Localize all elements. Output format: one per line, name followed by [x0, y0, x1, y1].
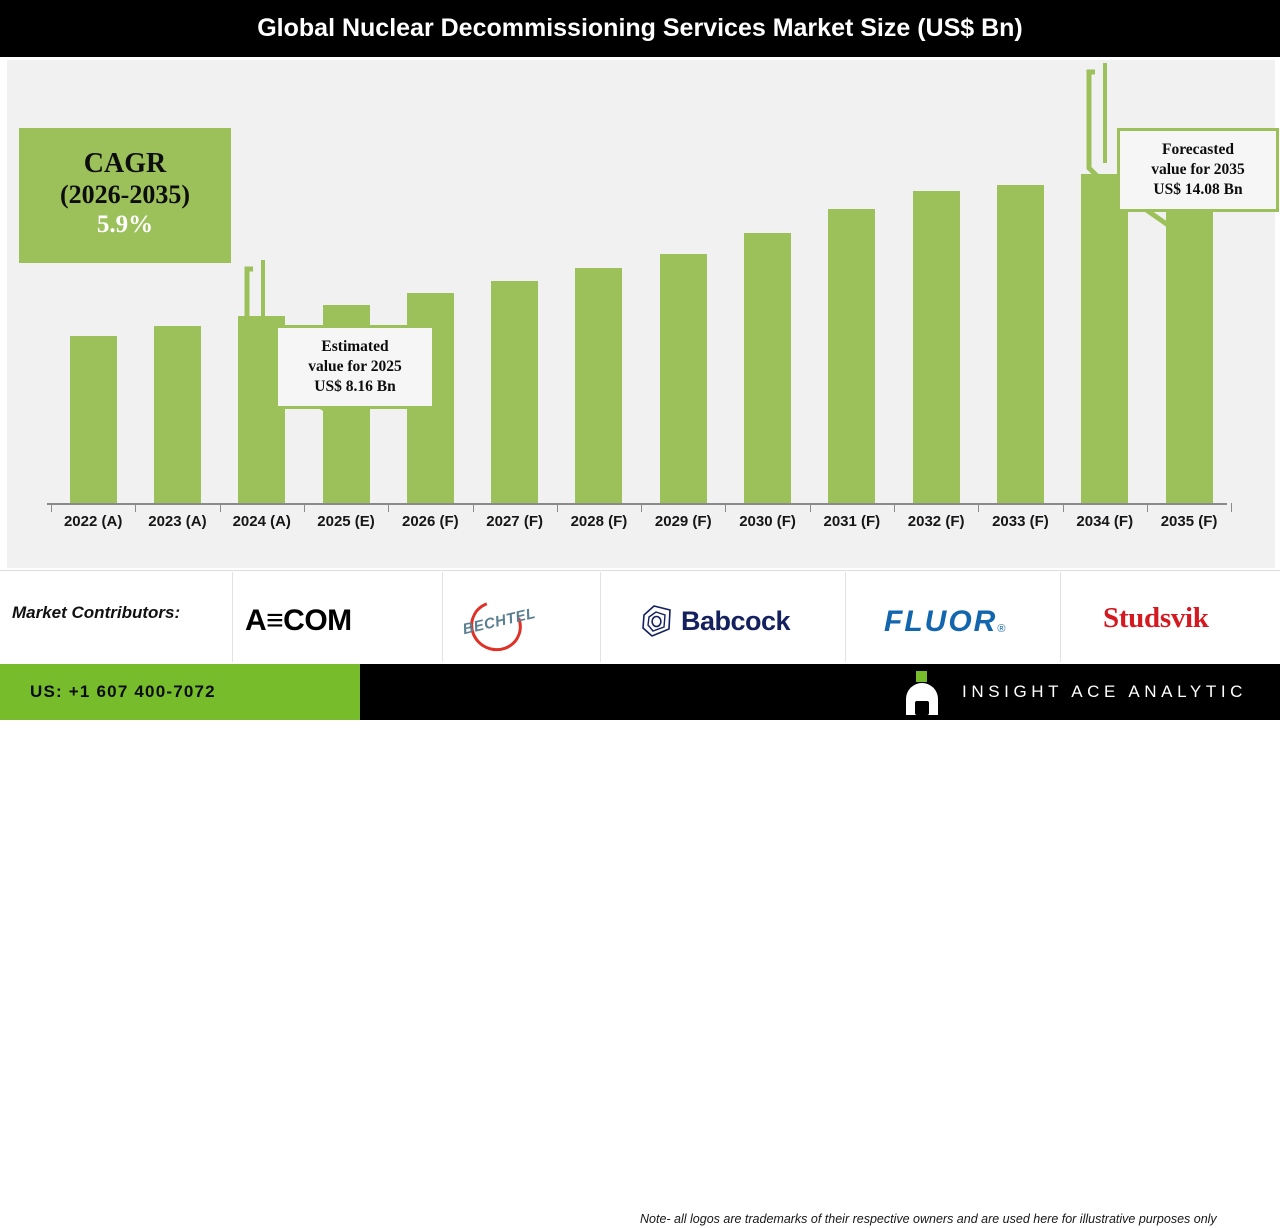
- callout-2025-line1: Estimated: [321, 337, 388, 357]
- contributor-divider: [600, 572, 601, 662]
- brand-name: INSIGHT ACE ANALYTIC: [962, 682, 1247, 702]
- bar-2032: [913, 191, 960, 503]
- bar-2033: [997, 185, 1044, 503]
- logo-a-notch: [915, 701, 929, 715]
- bar-2029: [660, 254, 707, 503]
- logo-aecom: A≡COM: [245, 604, 352, 638]
- x-label-2023: 2023 (A): [130, 513, 225, 530]
- x-tick: [1231, 503, 1232, 512]
- x-label-2025: 2025 (E): [299, 513, 394, 530]
- contributor-divider: [232, 572, 233, 662]
- x-label-2027: 2027 (F): [467, 513, 562, 530]
- cagr-badge: CAGR (2026-2035) 5.9%: [19, 128, 231, 263]
- x-axis-line: [47, 503, 1227, 505]
- cagr-value: 5.9%: [97, 209, 153, 242]
- insightace-logo-icon: [900, 669, 944, 715]
- brand-block: INSIGHT ACE ANALYTIC: [900, 664, 1247, 720]
- contributor-divider: [442, 572, 443, 662]
- bar-2031: [828, 209, 875, 503]
- callout-2035-line3: US$ 14.08 Bn: [1153, 180, 1242, 200]
- callout-estimated-2025: Estimated value for 2025 US$ 8.16 Bn: [275, 325, 435, 409]
- logo-fluor-text: FLUOR: [884, 605, 997, 639]
- callout-2035-line1: Forecasted: [1162, 140, 1234, 160]
- page-title: Global Nuclear Decommissioning Services …: [257, 14, 1023, 43]
- x-label-2029: 2029 (F): [636, 513, 731, 530]
- callout-forecasted-2035: Forecasted value for 2035 US$ 14.08 Bn: [1117, 128, 1279, 212]
- bar-2028: [575, 268, 622, 503]
- x-label-2030: 2030 (F): [720, 513, 815, 530]
- cagr-title: CAGR: [84, 149, 166, 179]
- callout-2035-line2: value for 2035: [1151, 160, 1245, 180]
- logo-babcock-text: Babcock: [681, 606, 790, 637]
- chart-panel: 2022 (A)2023 (A)2024 (A)2025 (E)2026 (F)…: [6, 60, 1275, 568]
- x-label-2034: 2034 (F): [1057, 513, 1152, 530]
- bar-2027: [491, 281, 538, 503]
- cagr-period: (2026-2035): [60, 180, 190, 210]
- callout-2025-line3: US$ 8.16 Bn: [314, 377, 395, 397]
- contributor-divider: [845, 572, 846, 662]
- x-label-2035: 2035 (F): [1142, 513, 1237, 530]
- bar-2022: [70, 336, 117, 503]
- x-label-2024: 2024 (A): [214, 513, 309, 530]
- logo-dot: [916, 671, 927, 682]
- logo-bechtel: BECHTEL: [462, 599, 542, 647]
- x-label-2032: 2032 (F): [889, 513, 984, 530]
- babcock-hexagon-icon: [640, 604, 674, 638]
- x-label-2026: 2026 (F): [383, 513, 478, 530]
- bar-2034: [1081, 174, 1128, 503]
- contributor-divider: [1060, 572, 1061, 662]
- footer-phone-block[interactable]: US: +1 607 400-7072: [0, 664, 360, 720]
- logo-fluor: FLUOR ®: [884, 605, 1005, 639]
- contributors-label: Market Contributors:: [12, 603, 232, 623]
- trademark-note: Note- all logos are trademarks of their …: [640, 1212, 1280, 1228]
- registered-mark-icon: ®: [997, 623, 1005, 635]
- footer-bar: US: +1 607 400-7072 INSIGHT ACE ANALYTIC: [0, 664, 1280, 720]
- x-label-2028: 2028 (F): [551, 513, 646, 530]
- x-label-2022: 2022 (A): [46, 513, 141, 530]
- logo-aecom-text: A≡COM: [245, 604, 352, 638]
- logo-studsvik-text: Studsvik: [1103, 602, 1209, 635]
- x-label-2033: 2033 (F): [973, 513, 1068, 530]
- logo-studsvik: Studsvik: [1103, 602, 1209, 635]
- x-label-2031: 2031 (F): [804, 513, 899, 530]
- bar-2023: [154, 326, 201, 503]
- market-contributors-strip: Market Contributors: A≡COM BECHTEL Babco…: [0, 570, 1280, 665]
- infographic-root: Global Nuclear Decommissioning Services …: [0, 0, 1280, 720]
- callout-2025-line2: value for 2025: [308, 357, 402, 377]
- logo-babcock: Babcock: [640, 604, 790, 638]
- phone-number[interactable]: US: +1 607 400-7072: [30, 682, 216, 702]
- bar-2030: [744, 233, 791, 503]
- title-bar: Global Nuclear Decommissioning Services …: [0, 0, 1280, 57]
- bar-2035: [1166, 161, 1213, 503]
